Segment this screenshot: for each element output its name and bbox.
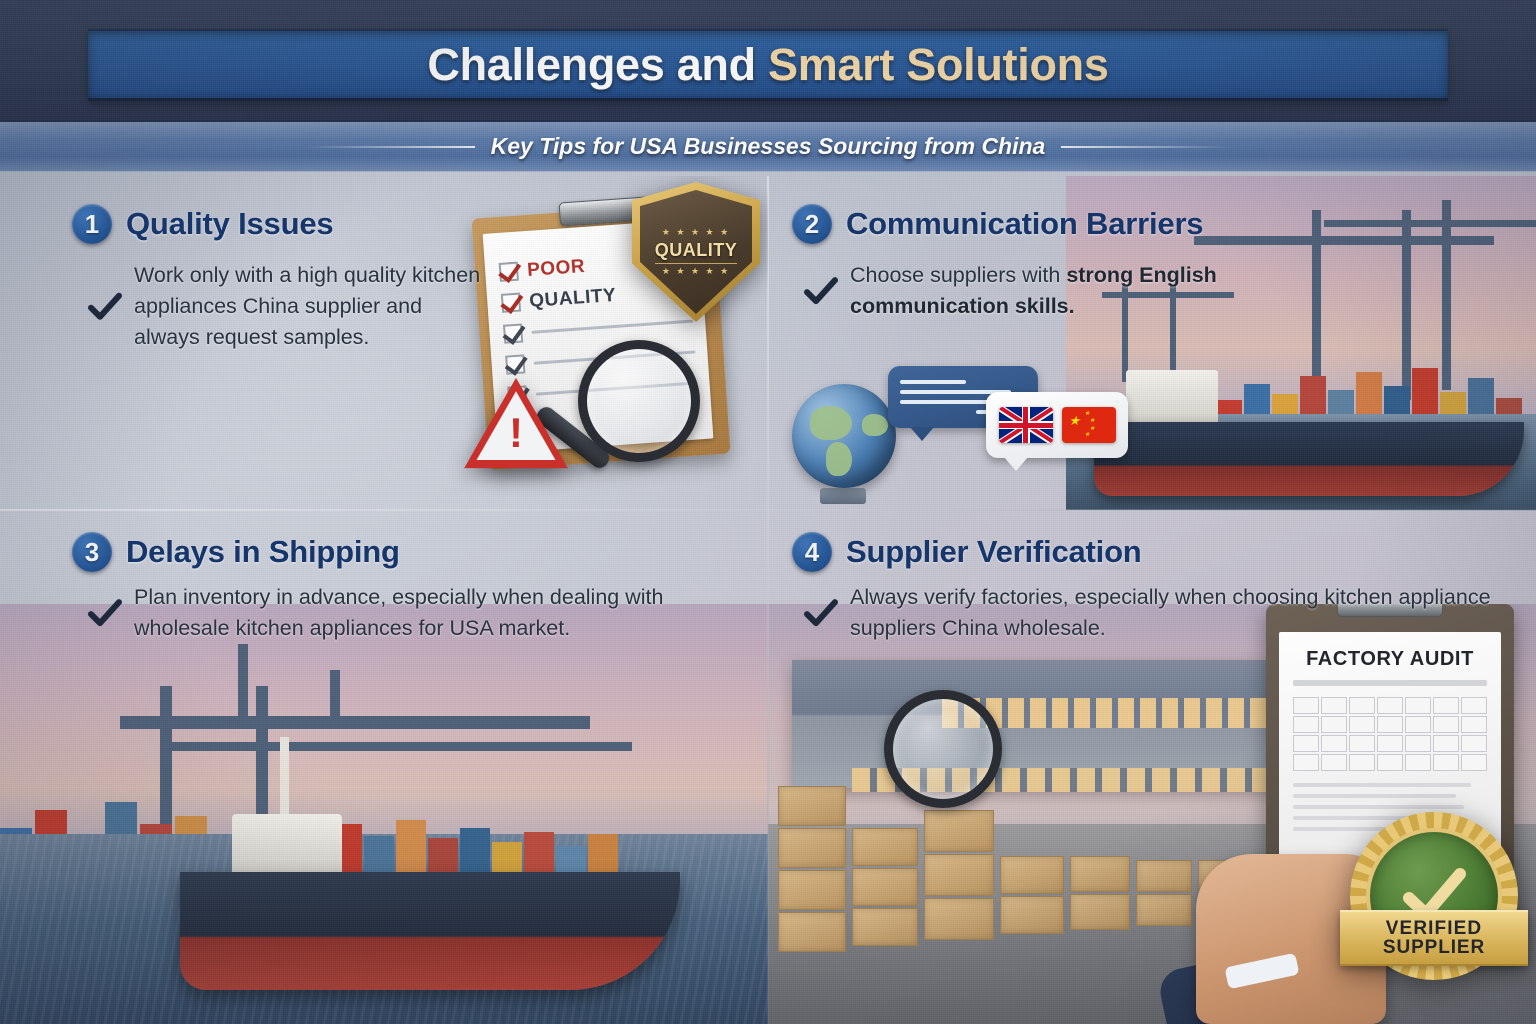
section-number-badge-3: 3: [72, 532, 112, 572]
shield-label: QUALITY: [655, 240, 738, 264]
communication-illustration: ★ ★ ★ ★ ★: [780, 360, 1130, 510]
ship-superstructure: [1126, 370, 1218, 428]
port-ship-photo-3: [0, 604, 768, 1024]
checklist-label-poor: POOR: [526, 255, 585, 281]
subtitle-band: Key Tips for USA Businesses Sourcing fro…: [0, 120, 1536, 172]
magnifier-lens: [884, 690, 1002, 808]
checkmark-icon: [88, 584, 122, 644]
globe-stand: [820, 488, 866, 504]
box-stack: [1136, 860, 1192, 926]
section-body-2: Choose suppliers with strong English com…: [850, 260, 1284, 322]
verified-supplier-badge: VERIFIED SUPPLIER: [1350, 812, 1518, 980]
verified-label-line1: VERIFIED: [1386, 919, 1482, 938]
audit-subheading-bar: [1293, 680, 1487, 686]
gantry-crane-beam: [1324, 220, 1536, 227]
section-number-badge-1: 1: [72, 204, 112, 244]
section-title-3: Delays in Shipping: [126, 534, 400, 570]
factory-audit-title: FACTORY AUDIT: [1293, 648, 1487, 671]
magnifying-glass-icon: [884, 690, 1002, 808]
verified-label-line2: SUPPLIER: [1383, 938, 1485, 957]
magnifying-glass-icon: [578, 340, 700, 462]
gantry-crane-beam: [120, 716, 590, 729]
section-body-3-text: Plan inventory in advance, especially wh…: [134, 585, 663, 640]
subtitle-rule-right: [1061, 146, 1231, 148]
china-flag-icon: ★ ★ ★ ★ ★: [1062, 407, 1116, 443]
section-bullet-1: Work only with a high quality kitchen ap…: [88, 260, 488, 354]
checkbox-checked-icon: [501, 293, 521, 313]
section-bullet-4: Always verify factories, especially when…: [804, 582, 1504, 644]
section-card-supplier-verification: FACTORY AUDIT: [768, 510, 1536, 1024]
uk-flag-icon: [999, 407, 1053, 443]
checkmark-icon: [804, 584, 838, 644]
grid-divider-horizontal: [0, 509, 1536, 511]
gantry-crane-mast: [330, 670, 340, 724]
section-number-badge-2: 2: [792, 204, 832, 244]
section-body-1-text: Work only with a high quality kitchen ap…: [134, 263, 480, 349]
box-stack: [1000, 856, 1064, 934]
page-title: Challenges and Smart Solutions: [427, 39, 1108, 91]
checklist-label-quality: QUALITY: [529, 284, 617, 312]
page-title-part2: Smart Solutions: [768, 39, 1109, 90]
section-number-badge-4: 4: [792, 532, 832, 572]
gantry-crane-beam: [172, 742, 632, 751]
section-body-1: Work only with a high quality kitchen ap…: [134, 260, 488, 354]
cargo-ship-hull: [1094, 422, 1524, 496]
checkmark-icon: [88, 262, 122, 354]
page-title-part1: Challenges and: [427, 39, 768, 90]
section-body-3: Plan inventory in advance, especially wh…: [134, 582, 718, 644]
ship-mast: [280, 737, 289, 819]
shield-inner: ★ ★ ★ ★ ★ QUALITY ★ ★ ★ ★ ★: [640, 190, 752, 314]
section-heading-1: 1 Quality Issues: [72, 204, 333, 244]
magnifier-lens: [578, 340, 700, 462]
audit-table-grid: [1293, 697, 1487, 771]
section-body-4-text: Always verify factories, especially when…: [850, 585, 1491, 640]
box-stack: [852, 828, 918, 946]
section-heading-4: 4 Supplier Verification: [792, 532, 1142, 572]
quality-illustration: POOR QUALITY: [462, 180, 762, 500]
box-stack: [778, 786, 846, 952]
quality-shield-icon: ★ ★ ★ ★ ★ QUALITY ★ ★ ★ ★ ★: [632, 182, 760, 322]
infographic-poster: Challenges and Smart Solutions Key Tips …: [0, 0, 1536, 1024]
section-bullet-2: Choose suppliers with strong English com…: [804, 260, 1284, 322]
gantry-crane-leg: [1442, 200, 1451, 390]
warning-exclamation: !: [509, 418, 523, 447]
checkmark-icon: [804, 262, 838, 322]
section-heading-3: 3 Delays in Shipping: [72, 532, 400, 572]
section-card-communication-barriers: ★ ★ ★ ★ ★ 2 Communication Barriers Cho: [768, 176, 1536, 510]
section-heading-2: 2 Communication Barriers: [792, 204, 1203, 244]
checkbox-checked-icon: [505, 354, 525, 374]
section-title-4: Supplier Verification: [846, 534, 1142, 570]
header: Challenges and Smart Solutions Key Tips …: [0, 0, 1536, 176]
shield-stars-bottom: ★ ★ ★ ★ ★: [662, 267, 730, 276]
cargo-ship-hull: [180, 872, 680, 990]
section-card-delays-in-shipping: 3 Delays in Shipping Plan inventory in a…: [0, 510, 768, 1024]
section-bullet-3: Plan inventory in advance, especially wh…: [88, 582, 718, 644]
box-stack: [924, 810, 994, 940]
grid-divider-vertical: [767, 176, 769, 1024]
chat-bubble-icon-flags: ★ ★ ★ ★ ★: [986, 392, 1128, 458]
shield-stars-top: ★ ★ ★ ★ ★: [662, 228, 730, 237]
checkbox-checked-icon: [503, 323, 523, 343]
factory-audit-photo: FACTORY AUDIT: [768, 604, 1536, 1024]
title-band: Challenges and Smart Solutions: [88, 29, 1448, 101]
warning-triangle-icon: !: [462, 376, 570, 472]
checkbox-checked-icon: [499, 262, 519, 282]
section-card-quality-issues: POOR QUALITY: [0, 176, 768, 510]
sections-grid: POOR QUALITY: [0, 176, 1536, 1024]
page-subtitle: Key Tips for USA Businesses Sourcing fro…: [491, 133, 1046, 160]
subtitle-rule-left: [305, 146, 475, 148]
badge-ribbon: VERIFIED SUPPLIER: [1340, 910, 1528, 966]
section-body-2-pre: Choose suppliers with: [850, 263, 1066, 287]
globe-icon: [792, 384, 896, 488]
section-title-1: Quality Issues: [126, 206, 333, 242]
section-body-4: Always verify factories, especially when…: [850, 582, 1504, 644]
gantry-crane-mast: [238, 644, 248, 724]
box-stack: [1070, 856, 1130, 930]
section-title-2: Communication Barriers: [846, 206, 1203, 242]
